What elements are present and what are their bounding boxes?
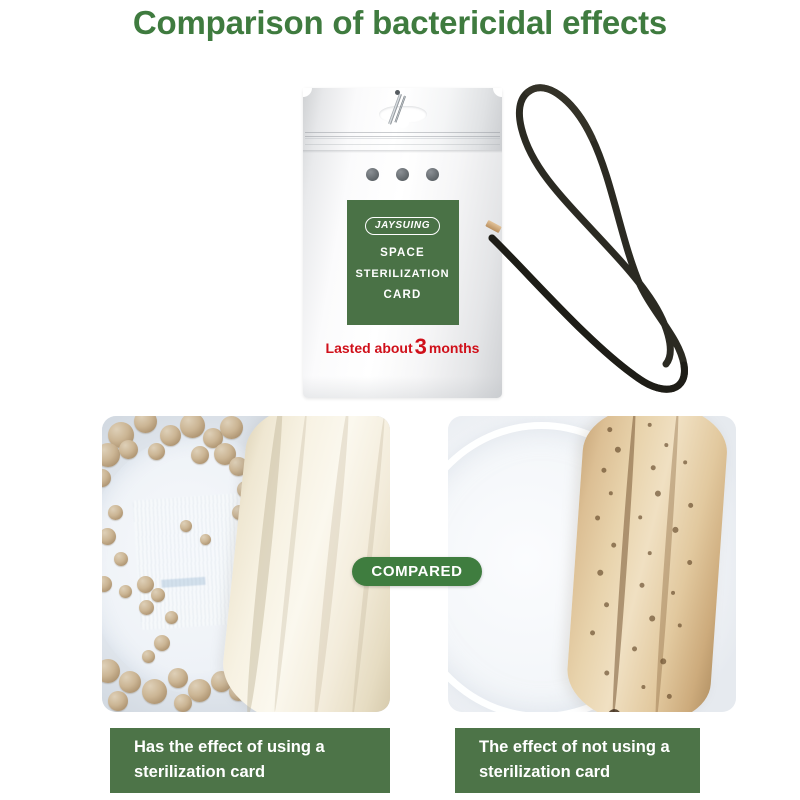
comparison-photo-without-card xyxy=(448,416,736,712)
rot-spot xyxy=(666,694,671,699)
bead-icon xyxy=(180,520,192,532)
rot-spot xyxy=(607,427,612,432)
banana-ridge xyxy=(272,416,309,712)
bead-icon xyxy=(160,425,181,446)
rot-spot xyxy=(641,685,645,689)
rot-spot xyxy=(595,516,600,521)
rot-spot xyxy=(654,491,660,497)
caption-line-2: sterilization card xyxy=(134,760,390,785)
rot-spot xyxy=(677,624,681,628)
comparison-photo-with-card xyxy=(102,416,390,712)
rot-spot xyxy=(650,465,655,470)
bead-icon xyxy=(119,671,141,693)
rot-spot xyxy=(664,443,668,447)
rot-spot xyxy=(672,527,678,533)
banana-seam xyxy=(653,416,681,712)
banana-tip xyxy=(607,709,622,712)
banana-seam xyxy=(610,416,638,712)
rot-spot xyxy=(638,515,642,519)
compared-badge: COMPARED xyxy=(352,557,482,586)
bead-icon xyxy=(137,576,154,593)
comparison-section: COMPARED Has the effect of using a steri… xyxy=(0,0,800,800)
rot-spot xyxy=(603,603,608,608)
rot-spot xyxy=(688,503,693,508)
bead-icon xyxy=(220,416,243,439)
rotten-banana xyxy=(564,416,730,712)
rot-spot xyxy=(608,491,612,495)
rot-spot xyxy=(687,560,692,565)
rot-spot xyxy=(639,583,644,588)
bead-icon xyxy=(151,588,165,602)
rot-spot xyxy=(670,591,674,595)
rot-spot xyxy=(597,570,603,576)
bead-icon xyxy=(119,440,138,459)
bead-icon xyxy=(139,600,154,615)
bead-icon xyxy=(108,691,128,711)
rot-spot xyxy=(590,631,595,636)
caption-without-card: The effect of not using a sterilization … xyxy=(455,728,700,793)
bead-icon xyxy=(168,668,188,688)
bead-icon xyxy=(108,505,123,520)
caption-line-1: Has the effect of using a xyxy=(134,735,390,760)
rot-spot xyxy=(647,551,651,555)
caption-with-card: Has the effect of using a sterilization … xyxy=(110,728,390,793)
rot-spot xyxy=(648,615,654,621)
bead-icon xyxy=(154,635,170,651)
rot-spot xyxy=(601,468,606,473)
rot-spot xyxy=(648,423,652,427)
rot-spot xyxy=(632,646,637,651)
rot-spot xyxy=(614,446,620,452)
rot-spot xyxy=(683,461,687,465)
rot-spot xyxy=(604,670,609,675)
rot-spot xyxy=(660,658,666,664)
bead-icon xyxy=(148,443,165,460)
bead-icon xyxy=(191,446,209,464)
rot-spot xyxy=(610,542,615,547)
caption-line-1: The effect of not using a xyxy=(479,735,700,760)
caption-line-2: sterilization card xyxy=(479,760,700,785)
bead-icon xyxy=(174,694,192,712)
bead-icon xyxy=(114,552,128,566)
bead-icon xyxy=(119,585,132,598)
